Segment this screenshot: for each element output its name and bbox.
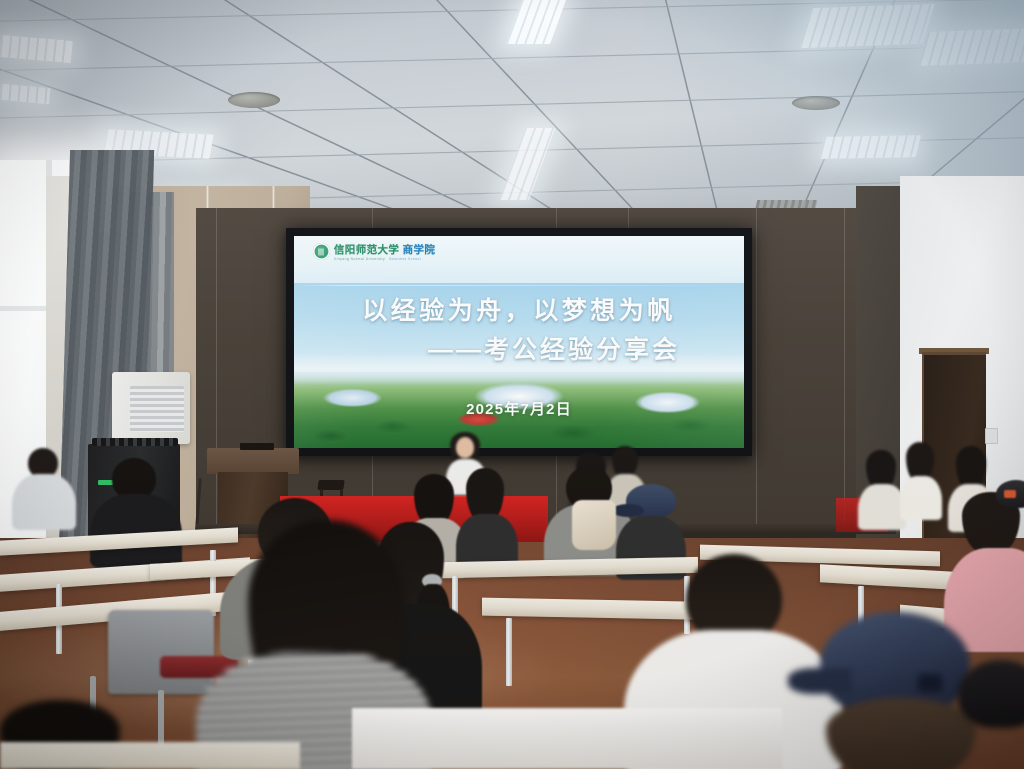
ceiling-light: [799, 4, 935, 48]
led-display[interactable]: 信阳师范大学 商学院 Xinyang Normal University Bus…: [286, 228, 752, 456]
slide-logo-en: Xinyang Normal University Business Schoo…: [334, 258, 435, 261]
torso: [858, 484, 906, 530]
head: [456, 437, 474, 458]
classroom-photo: 信阳师范大学 商学院 Xinyang Normal University Bus…: [0, 0, 1024, 769]
ceiling-light: [919, 28, 1024, 66]
slide-header-divider: [294, 285, 744, 286]
university-seal-icon: [313, 243, 330, 260]
desk-leg: [506, 618, 512, 686]
lectern-top: [207, 448, 299, 474]
chair: [108, 610, 214, 694]
torso: [12, 474, 76, 530]
desk: [0, 742, 300, 769]
slide-logo-text: 信阳师范大学 商学院 Xinyang Normal University Bus…: [334, 241, 435, 261]
cap-brim-icon: [788, 668, 852, 694]
torso: [900, 476, 942, 520]
bag: [572, 500, 616, 550]
slide-title-line-1: 以经验为舟，以梦想为帆: [294, 291, 744, 327]
desk: [352, 708, 782, 769]
hair: [826, 698, 976, 769]
cap-brim-icon: [612, 504, 644, 517]
slide-logo-cn: 信阳师范大学 商学院: [334, 244, 435, 256]
slide-photo-sky: [294, 372, 744, 386]
cap-strap-icon: [918, 674, 942, 692]
slide-title-line-2: ——考公经验分享会: [294, 330, 744, 366]
cap-logo-icon: [1004, 490, 1016, 498]
slide-date: 2025年7月2日: [294, 398, 744, 419]
lectern-microphone: [240, 443, 274, 450]
ceiling-light: [819, 135, 921, 159]
rack-top-cables: [92, 438, 178, 446]
air-conditioner-grille: [130, 386, 184, 432]
chair-leg: [158, 690, 164, 746]
air-vent-icon: [792, 96, 840, 110]
light-switch[interactable]: [985, 428, 998, 444]
presentation-slide: 信阳师范大学 商学院 Xinyang Normal University Bus…: [294, 236, 744, 448]
slide-logo: 信阳师范大学 商学院 Xinyang Normal University Bus…: [313, 241, 435, 261]
air-vent-icon: [228, 92, 280, 108]
